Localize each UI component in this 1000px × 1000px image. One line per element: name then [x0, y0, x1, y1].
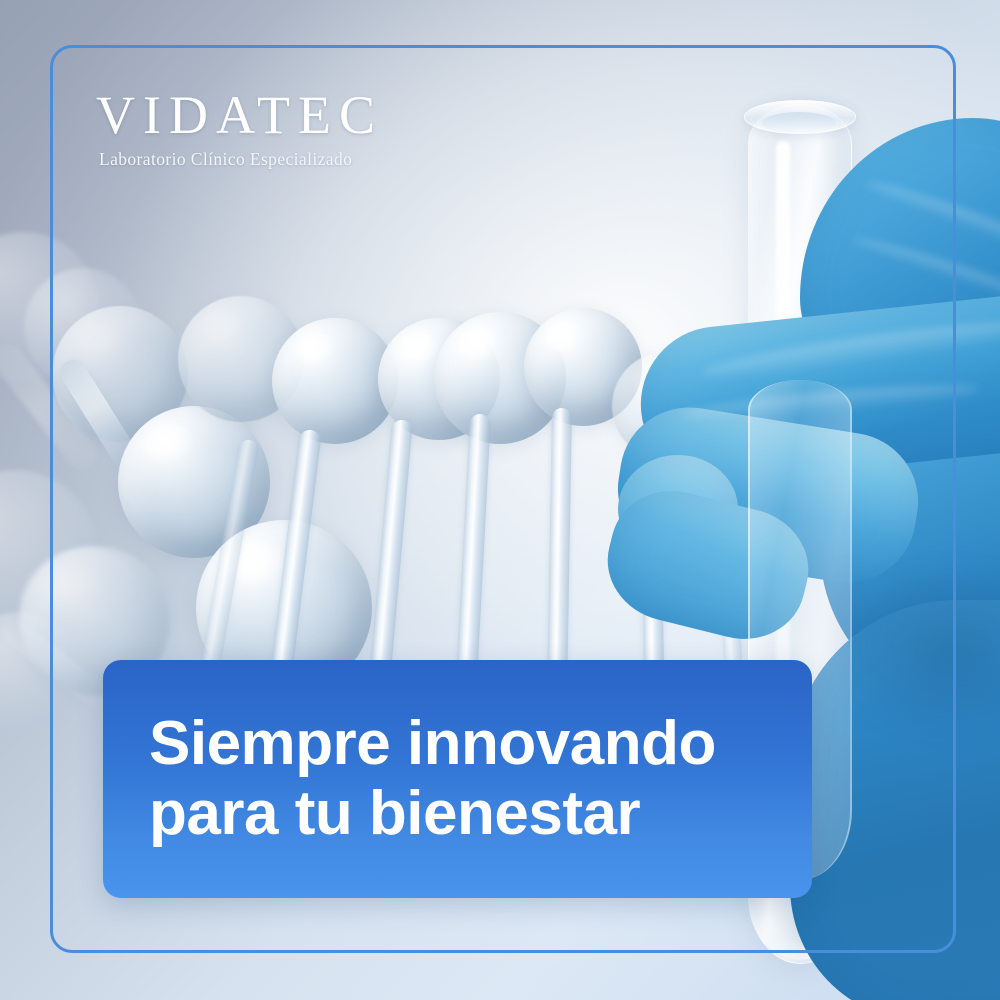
brand-tagline: Laboratorio Clínico Especializado: [99, 149, 383, 170]
molecule-rod: [370, 419, 413, 672]
brand-logo: VIDATEC Laboratorio Clínico Especializad…: [96, 88, 383, 170]
headline-line-2: para tu bienestar: [149, 781, 766, 847]
headline-line-1: Siempre innovando: [149, 711, 766, 777]
brand-name: VIDATEC: [96, 88, 383, 142]
molecule-rod: [547, 408, 572, 668]
test-tube-mouth: [762, 112, 836, 134]
molecule-rod: [457, 413, 491, 670]
headline-banner: Siempre innovando para tu bienestar: [103, 660, 812, 898]
promo-poster: VIDATEC Laboratorio Clínico Especializad…: [0, 0, 1000, 1000]
